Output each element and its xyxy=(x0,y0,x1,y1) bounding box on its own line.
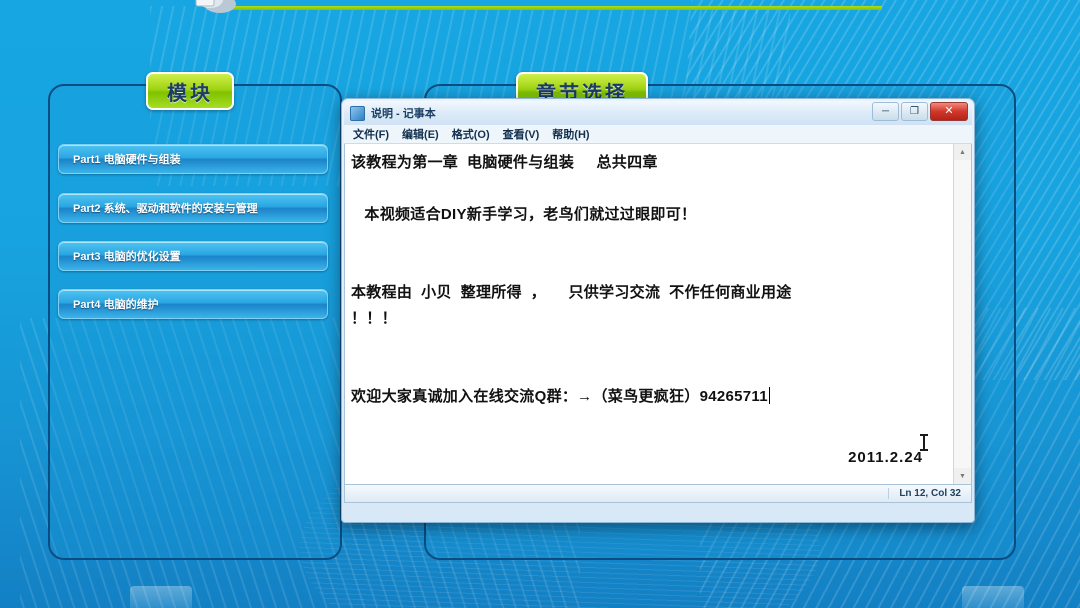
module-tab-label: 模块 xyxy=(167,77,213,106)
notepad-menu-bar: 文件(F) 编辑(E) 格式(O) 查看(V) 帮助(H) xyxy=(344,125,972,144)
text-line-with-caret: 欢迎大家真诚加入在线交流Q群：→（菜鸟更疯狂）94265711 xyxy=(351,384,943,410)
text-line xyxy=(351,358,943,384)
minimize-button[interactable]: ─ xyxy=(872,102,899,121)
notepad-title-bar[interactable]: 说明 - 记事本 ─ ❐ ✕ xyxy=(344,101,972,125)
sidebar-item-label: Part2 系统、驱动和软件的安装与管理 xyxy=(59,200,258,216)
menu-format[interactable]: 格式(O) xyxy=(452,126,490,142)
notepad-status-bar: Ln 12, Col 32 xyxy=(344,485,972,503)
text-caret xyxy=(769,387,770,404)
maximize-icon: ❐ xyxy=(910,107,919,117)
header-graphic-icon xyxy=(190,0,250,16)
sidebar-item-label: Part4 电脑的维护 xyxy=(59,296,159,312)
top-decoration-bar xyxy=(0,0,1080,12)
text-line xyxy=(351,228,943,254)
sidebar-item-part3[interactable]: Part3 电脑的优化设置 xyxy=(58,241,328,271)
vertical-scrollbar[interactable]: ▲ ▼ xyxy=(953,144,971,484)
text-line xyxy=(351,176,943,202)
scrollbar-track[interactable] xyxy=(954,160,971,468)
sidebar-item-label: Part1 电脑硬件与组装 xyxy=(59,151,181,167)
green-divider-line xyxy=(232,6,882,10)
sidebar-item-part4[interactable]: Part4 电脑的维护 xyxy=(58,289,328,319)
close-icon: ✕ xyxy=(944,106,953,117)
text-line: ！！！ xyxy=(351,306,943,332)
notepad-body: 该教程为第一章 电脑硬件与组装 总共四章 本视频适合DIY新手学习，老鸟们就过过… xyxy=(344,144,972,485)
text-line xyxy=(351,332,943,358)
close-button[interactable]: ✕ xyxy=(930,102,968,121)
text-line xyxy=(351,254,943,280)
cursor-position-status: Ln 12, Col 32 xyxy=(888,488,971,499)
menu-file[interactable]: 文件(F) xyxy=(353,126,389,142)
bottom-chip-right xyxy=(962,586,1024,608)
notepad-window-title: 说明 - 记事本 xyxy=(371,105,436,121)
bottom-chip-left xyxy=(130,586,192,608)
text-line: 该教程为第一章 电脑硬件与组装 总共四章 xyxy=(351,150,943,176)
menu-help[interactable]: 帮助(H) xyxy=(552,126,589,142)
sidebar-item-label: Part3 电脑的优化设置 xyxy=(59,248,181,264)
minimize-icon: ─ xyxy=(882,107,889,117)
maximize-button[interactable]: ❐ xyxy=(901,102,928,121)
text-line: 本教程由 小贝 整理所得 ， 只供学习交流 不作任何商业用途 xyxy=(351,280,943,306)
scroll-down-arrow-icon[interactable]: ▼ xyxy=(954,468,971,484)
sidebar-item-part1[interactable]: Part1 电脑硬件与组装 xyxy=(58,144,328,174)
scroll-up-arrow-icon[interactable]: ▲ xyxy=(954,144,971,160)
sidebar-item-part2[interactable]: Part2 系统、驱动和软件的安装与管理 xyxy=(58,193,328,223)
notepad-icon xyxy=(350,106,365,121)
text-line: 本视频适合DIY新手学习，老鸟们就过过眼即可！ xyxy=(351,202,943,228)
notepad-text-area[interactable]: 该教程为第一章 电脑硬件与组装 总共四章 本视频适合DIY新手学习，老鸟们就过过… xyxy=(345,144,953,484)
menu-view[interactable]: 查看(V) xyxy=(503,126,540,142)
mouse-ibeam-cursor xyxy=(923,434,925,451)
menu-edit[interactable]: 编辑(E) xyxy=(402,126,439,142)
window-controls: ─ ❐ ✕ xyxy=(872,102,968,121)
date-text: 2011.2.24 xyxy=(848,449,923,466)
module-tab-header[interactable]: 模块 xyxy=(146,72,234,110)
text-line: 欢迎大家真诚加入在线交流Q群：→（菜鸟更疯狂）94265711 xyxy=(351,388,768,405)
notepad-window[interactable]: 说明 - 记事本 ─ ❐ ✕ 文件(F) 编辑(E) 格式(O) 查看(V) 帮… xyxy=(341,98,975,523)
